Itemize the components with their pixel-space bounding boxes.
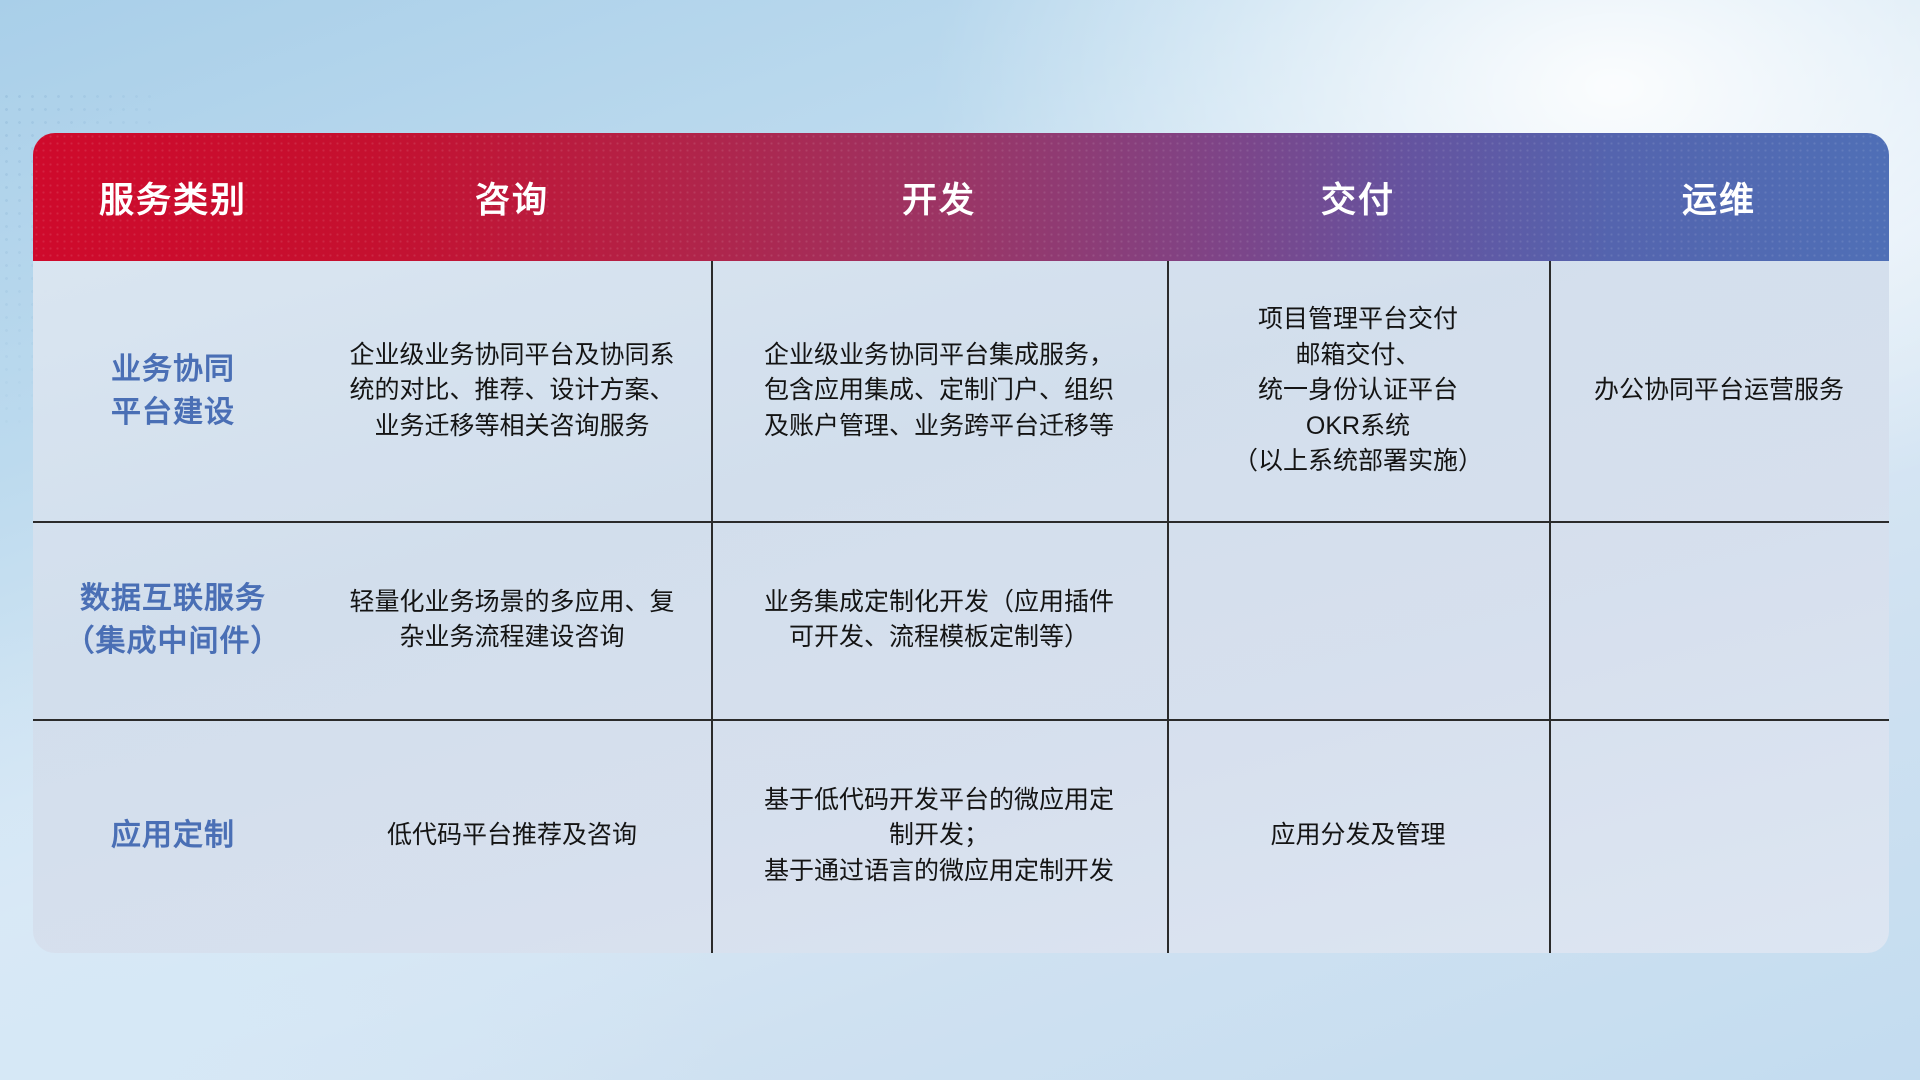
cell-operations <box>1549 719 1889 953</box>
header-label-delivery: 交付 <box>1321 172 1395 223</box>
row-category-label: 业务协同 平台建设 <box>33 261 313 521</box>
table-row: 数据互联服务 （集成中间件） 轻量化业务场景的多应用、复 杂业务流程建设咨询 业… <box>33 521 1889 719</box>
header-cell-consulting: 咨询 <box>313 133 711 261</box>
table-row: 应用定制 低代码平台推荐及咨询 基于低代码开发平台的微应用定 制开发； 基于通过… <box>33 719 1889 953</box>
table-header-row: 服务类别 咨询 开发 交付 运维 <box>33 133 1889 261</box>
header-cell-category: 服务类别 <box>33 133 313 261</box>
cell-delivery: 项目管理平台交付 邮箱交付、 统一身份认证平台 OKR系统 （以上系统部署实施） <box>1167 261 1549 521</box>
cell-development: 基于低代码开发平台的微应用定 制开发； 基于通过语言的微应用定制开发 <box>711 719 1167 953</box>
table-body: 业务协同 平台建设 企业级业务协同平台及协同系 统的对比、推荐、设计方案、 业务… <box>33 261 1889 953</box>
table-row: 业务协同 平台建设 企业级业务协同平台及协同系 统的对比、推荐、设计方案、 业务… <box>33 261 1889 521</box>
header-label-consulting: 咨询 <box>475 172 549 223</box>
cell-consulting: 企业级业务协同平台及协同系 统的对比、推荐、设计方案、 业务迁移等相关咨询服务 <box>313 261 711 521</box>
row-category-label: 应用定制 <box>33 719 313 953</box>
header-label-operations: 运维 <box>1682 172 1756 223</box>
cell-consulting: 低代码平台推荐及咨询 <box>313 719 711 953</box>
cell-operations <box>1549 521 1889 719</box>
cell-development: 业务集成定制化开发（应用插件 可开发、流程模板定制等） <box>711 521 1167 719</box>
cell-delivery: 应用分发及管理 <box>1167 719 1549 953</box>
service-matrix-table: 服务类别 咨询 开发 交付 运维 业务协同 平台建设 企业级业务协同平台及协同系… <box>33 133 1889 953</box>
header-cell-operations: 运维 <box>1549 133 1889 261</box>
header-label-category: 服务类别 <box>99 172 247 223</box>
cell-operations: 办公协同平台运营服务 <box>1549 261 1889 521</box>
header-cell-delivery: 交付 <box>1167 133 1549 261</box>
cell-delivery <box>1167 521 1549 719</box>
row-category-label: 数据互联服务 （集成中间件） <box>33 521 313 719</box>
header-label-development: 开发 <box>902 172 976 223</box>
cell-consulting: 轻量化业务场景的多应用、复 杂业务流程建设咨询 <box>313 521 711 719</box>
cell-development: 企业级业务协同平台集成服务， 包含应用集成、定制门户、组织 及账户管理、业务跨平… <box>711 261 1167 521</box>
header-cell-development: 开发 <box>711 133 1167 261</box>
